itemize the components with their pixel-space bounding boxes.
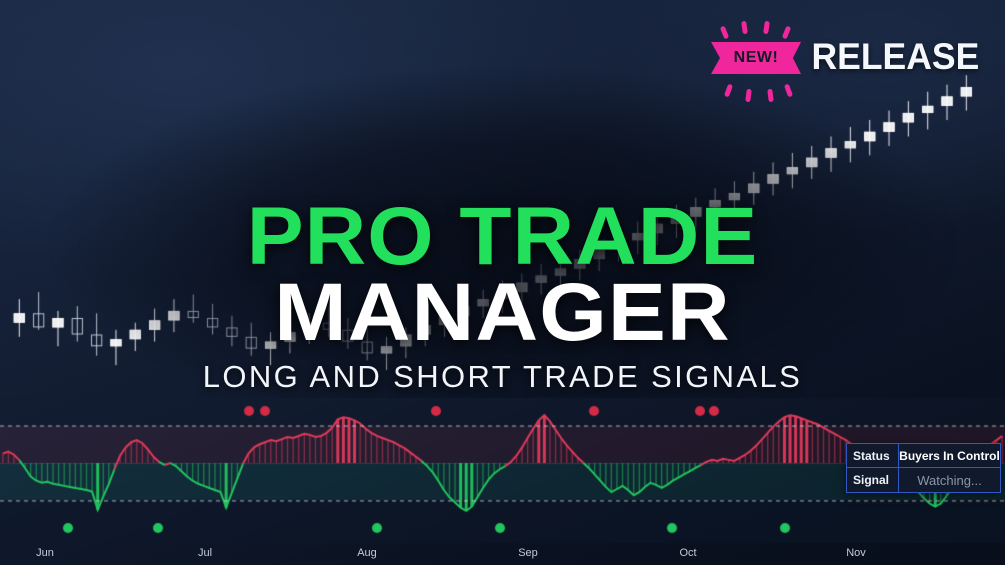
axis-tick-jun: Jun: [36, 547, 54, 559]
status-row-label: Status: [847, 444, 899, 468]
time-axis: JunJulAugSepOctNov: [0, 543, 1005, 565]
badge-ray: [782, 26, 792, 40]
axis-tick-nov: Nov: [846, 547, 866, 559]
badge-ray: [784, 84, 793, 98]
axis-tick-aug: Aug: [357, 547, 377, 559]
badge-ray: [720, 26, 730, 40]
axis-tick-oct: Oct: [679, 547, 696, 559]
badge-ray: [741, 21, 748, 35]
promo-banner: PRO TRADE MANAGER LONG AND SHORT TRADE S…: [0, 0, 1005, 565]
badge-new-ribbon: NEW!: [711, 42, 801, 74]
axis-tick-jul: Jul: [198, 547, 212, 559]
signal-row-value: Watching...: [899, 468, 1000, 492]
new-release-badge: NEW! RELEASE: [703, 13, 930, 99]
status-panel: Status Buyers In Control Signal Watching…: [846, 443, 1001, 493]
signal-row-label: Signal: [847, 468, 899, 492]
badge-ray: [724, 84, 733, 98]
badge-ray: [767, 89, 774, 103]
badge-ray: [763, 21, 770, 35]
status-row-value: Buyers In Control: [899, 444, 1000, 468]
badge-release-label: RELEASE: [811, 35, 979, 79]
axis-tick-sep: Sep: [518, 547, 538, 559]
